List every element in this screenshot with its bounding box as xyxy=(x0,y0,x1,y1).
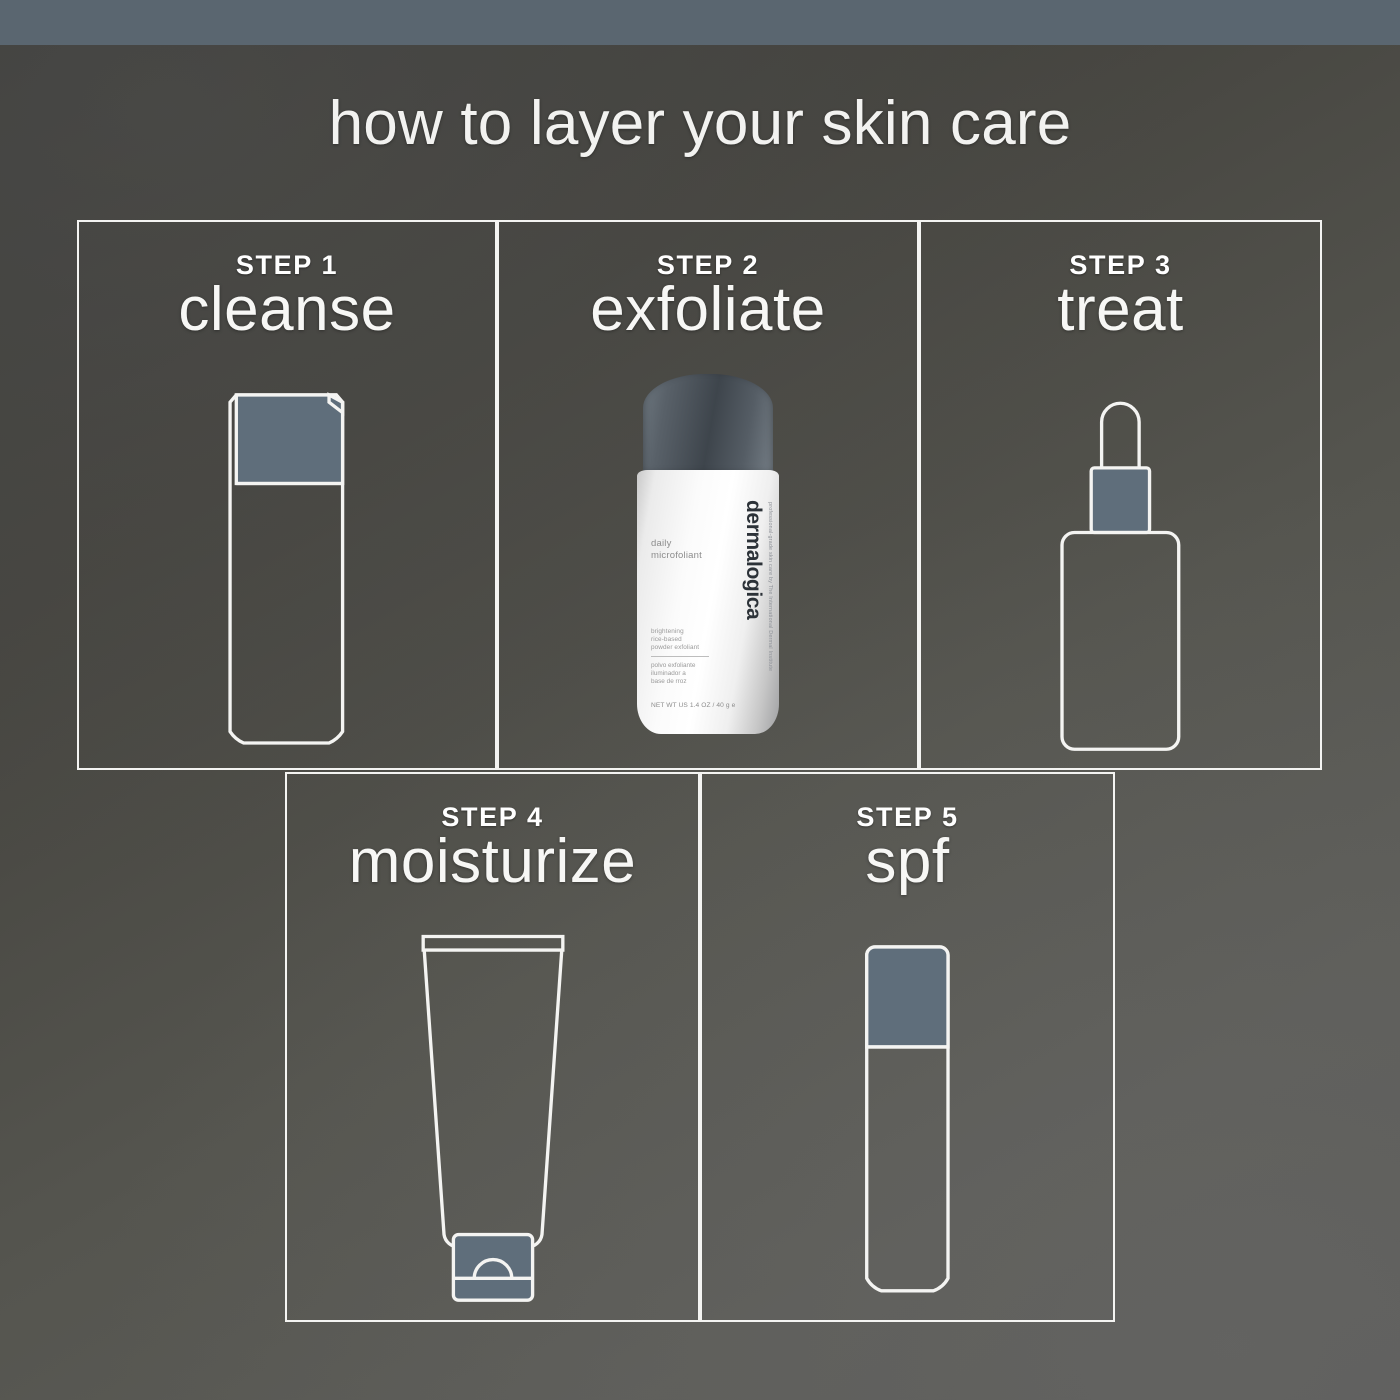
spf-bottle-icon xyxy=(702,924,1113,1320)
dropper-bottle-icon xyxy=(921,372,1320,768)
daily-microfoliant-product-photo: daily microfoliant brightening rice-base… xyxy=(637,374,779,734)
step-card-cleanse[interactable]: STEP 1 cleanse xyxy=(77,220,497,770)
brand-tagline: professional-grade skin care by The Inte… xyxy=(767,502,773,671)
step-card-moisturize[interactable]: STEP 4 moisturize xyxy=(285,772,700,1322)
product-net-weight: NET WT US 1.4 OZ / 40 g e xyxy=(651,702,735,709)
product-cap xyxy=(643,374,773,478)
page-title: how to layer your skin care xyxy=(0,88,1400,159)
infographic-canvas: how to layer your skin care STEP 1 clean… xyxy=(0,0,1400,1400)
step-name: moisturize xyxy=(287,826,698,897)
step-name: cleanse xyxy=(79,274,495,345)
step-name: treat xyxy=(921,274,1320,345)
step-card-exfoliate[interactable]: STEP 2 exfoliate daily microfoliant brig… xyxy=(497,220,919,770)
product-description-es: polvo exfoliante iluminador a base de rr… xyxy=(651,662,695,687)
step-name: exfoliate xyxy=(499,274,917,345)
product-name: daily microfoliant xyxy=(651,538,702,562)
squeeze-tube-icon xyxy=(287,924,698,1320)
step-name: spf xyxy=(702,826,1113,897)
cleanser-bottle-icon xyxy=(79,372,495,768)
top-accent-bar xyxy=(0,0,1400,45)
step-card-treat[interactable]: STEP 3 treat xyxy=(919,220,1322,770)
product-body: daily microfoliant brightening rice-base… xyxy=(637,470,779,734)
brand-wordmark: dermalogica xyxy=(741,500,765,619)
step-card-spf[interactable]: STEP 5 spf xyxy=(700,772,1115,1322)
label-divider xyxy=(651,656,709,657)
product-description-en: brightening rice-based powder exfoliant xyxy=(651,628,699,653)
